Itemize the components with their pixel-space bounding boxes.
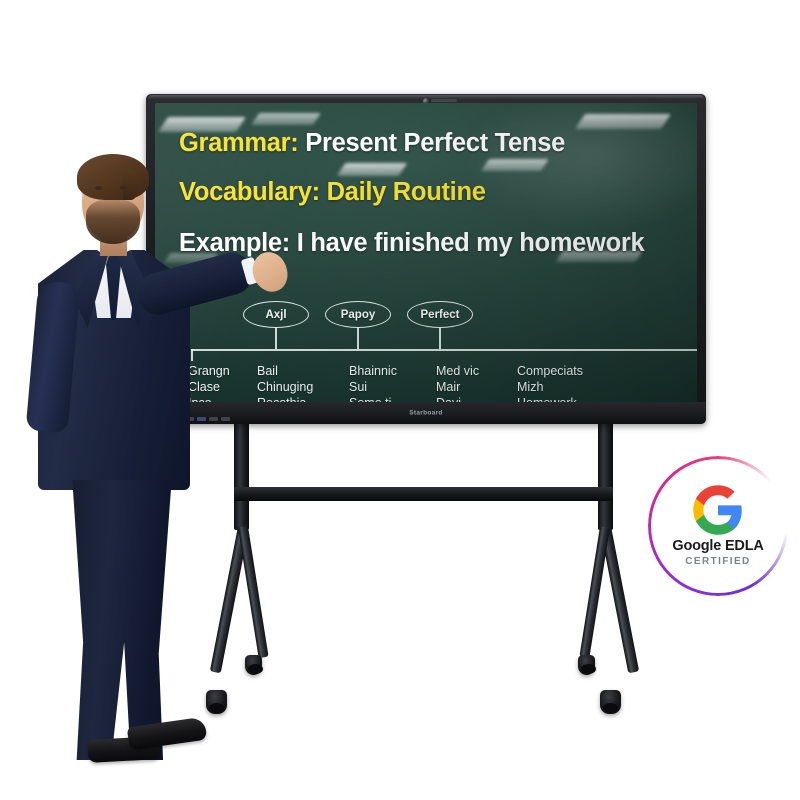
example-value: I have finished my homework	[290, 229, 644, 257]
google-edla-badge: Google EDLA CERTIFIED	[648, 456, 788, 596]
diagram-term: Homework	[517, 395, 607, 402]
diagram-term: Compeciats	[517, 363, 607, 379]
caster-wheel	[578, 655, 595, 675]
google-g-icon	[691, 483, 745, 537]
diagram-term: Med vic	[436, 363, 504, 379]
diagram-connector	[357, 328, 359, 349]
caster-wheel	[600, 690, 621, 714]
stand-post-right	[598, 420, 613, 530]
diagram-node: Papoy	[325, 301, 391, 328]
diagram-connector	[439, 328, 441, 349]
caster-wheel	[245, 655, 262, 675]
stand-crossbar	[234, 487, 613, 501]
diagram-term: Sui	[349, 379, 423, 395]
presenter-trousers	[68, 480, 176, 760]
diagram-node: Axjl	[243, 301, 309, 328]
diagram-node: Perfect	[407, 301, 473, 328]
diagram-term: Bail	[257, 363, 335, 379]
diagram-term: Chinuging	[257, 379, 335, 395]
presenter-beard	[86, 200, 140, 244]
diagram-term: Bhainnic	[349, 363, 423, 379]
badge-title: Google EDLA	[672, 538, 763, 554]
slide-diagram: Axjl Papoy Perfect Grangn	[179, 301, 691, 402]
stand-leg-right-front	[600, 526, 639, 673]
badge-face: Google EDLA CERTIFIED	[651, 459, 785, 593]
diagram-columns: Grangn Clase Inco Bail Chinuging Recothi…	[179, 363, 691, 402]
diagram-term: Davi	[436, 395, 504, 402]
slide-line-vocabulary: Vocabulary: Daily Routine	[179, 178, 691, 207]
sensor-strip	[431, 99, 457, 102]
diagram-connector	[275, 328, 277, 349]
diagram-column: Bail Chinuging Recothia	[257, 363, 335, 402]
diagram-column: Bhainnic Sui Seme ti	[349, 363, 423, 402]
presenter-eye	[95, 186, 102, 190]
diagram-nodes: Axjl Papoy Perfect	[243, 301, 493, 331]
diagram-term: Recothia	[257, 395, 335, 402]
diagram-term: Mizh	[517, 379, 607, 395]
grammar-value: Present Perfect Tense	[299, 129, 565, 157]
diagram-column: Compeciats Mizh Homework	[517, 363, 607, 402]
presenter-eye	[120, 186, 127, 190]
diagram-column: Med vic Mair Davi	[436, 363, 504, 402]
slide-line-example: Example: I have finished my homework	[179, 229, 691, 258]
scene-root: Grammar: Present Perfect Tense Vocabular…	[0, 0, 800, 800]
presenter-figure	[10, 150, 225, 770]
panel-brand-logo: Starboard	[409, 410, 442, 417]
diagram-term: Seme ti	[349, 395, 423, 402]
slide-line-grammar: Grammar: Present Perfect Tense	[179, 129, 691, 158]
stand-leg-left-back	[238, 526, 269, 658]
diagram-horizontal-bar	[191, 349, 697, 351]
stand-post-left	[234, 420, 249, 530]
diagram-term: Mair	[436, 379, 504, 395]
vocabulary-value: Daily Routine	[320, 178, 486, 206]
badge-subtitle: CERTIFIED	[685, 556, 750, 567]
stand-leg-right-back	[579, 526, 610, 658]
panel-bottom-bezel: Starboard	[146, 402, 706, 424]
presenter-hair	[77, 154, 149, 200]
